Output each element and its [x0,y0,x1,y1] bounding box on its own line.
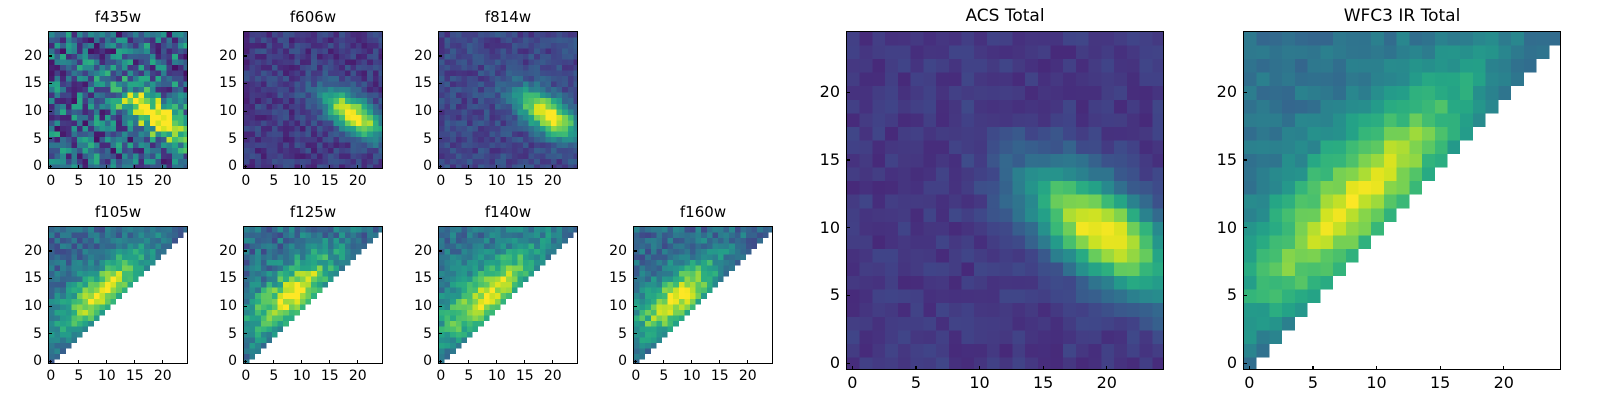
x-tick-label-acs-total-3: 15 [1033,375,1053,391]
x-tick-label-f160w-1: 5 [659,369,668,383]
y-tick-label-f160w-1: 5 [618,327,627,341]
y-tick-f435w-3 [48,83,52,84]
x-tick-f140w-4 [552,360,553,364]
panel-f140w: f140w0510152005101520 [438,226,578,364]
y-tick-acs-total-3 [846,159,850,160]
y-tick-f606w-3 [243,83,247,84]
y-tick-label-wfc3-ir-total-2: 10 [1217,220,1237,236]
x-tick-wfc3-ir-total-3 [1440,366,1441,370]
x-tick-label-f606w-0: 0 [241,174,250,188]
x-tick-label-f160w-2: 10 [683,369,701,383]
y-tick-label-f140w-0: 0 [423,354,432,368]
x-tick-label-f160w-0: 0 [631,369,640,383]
y-tick-f125w-1 [243,333,247,334]
y-tick-label-f125w-2: 10 [219,299,237,313]
y-tick-acs-total-4 [846,92,850,93]
y-tick-wfc3-ir-total-4 [1243,92,1247,93]
panel-f160w: f160w0510152005101520 [633,226,773,364]
x-tick-f606w-4 [357,165,358,169]
y-tick-acs-total-0 [846,363,850,364]
panel-f814w: f814w0510152005101520 [438,31,578,169]
heatmap-image [49,227,188,364]
x-tick-label-acs-total-0: 0 [847,375,857,391]
y-tick-label-wfc3-ir-total-1: 5 [1227,287,1237,303]
x-tick-label-f125w-2: 10 [293,369,311,383]
y-tick-label-f814w-1: 5 [423,132,432,146]
y-tick-label-f814w-3: 15 [414,76,432,90]
y-tick-f160w-1 [633,333,637,334]
x-tick-acs-total-1 [915,366,916,370]
y-tick-f606w-1 [243,138,247,139]
x-tick-f814w-4 [552,165,553,169]
x-tick-label-f435w-3: 15 [126,174,144,188]
y-tick-wfc3-ir-total-3 [1243,159,1247,160]
y-tick-f814w-1 [438,138,442,139]
x-tick-f125w-4 [357,360,358,364]
y-tick-f814w-0 [438,166,442,167]
panel-f435w: f435w0510152005101520 [48,31,188,169]
x-tick-label-wfc3-ir-total-3: 15 [1430,375,1450,391]
x-tick-f435w-4 [162,165,163,169]
y-tick-f160w-0 [633,361,637,362]
x-tick-label-f125w-0: 0 [241,369,250,383]
y-tick-label-wfc3-ir-total-3: 15 [1217,152,1237,168]
x-tick-wfc3-ir-total-0 [1249,366,1250,370]
x-tick-label-wfc3-ir-total-2: 10 [1366,375,1386,391]
x-tick-f125w-2 [301,360,302,364]
heatmap-image [244,227,383,364]
x-tick-label-f435w-4: 20 [154,174,172,188]
y-tick-label-f160w-0: 0 [618,354,627,368]
x-tick-wfc3-ir-total-4 [1503,366,1504,370]
x-tick-f435w-3 [134,165,135,169]
x-tick-acs-total-3 [1043,366,1044,370]
y-tick-f606w-0 [243,166,247,167]
heatmap-image [244,32,383,169]
panel-title-f125w: f125w [290,205,336,220]
y-tick-wfc3-ir-total-2 [1243,227,1247,228]
panel-title-f814w: f814w [485,10,531,25]
x-tick-label-f125w-4: 20 [349,369,367,383]
y-tick-acs-total-1 [846,295,850,296]
x-tick-label-acs-total-4: 20 [1097,375,1117,391]
panel-wfc3-ir-total: WFC3 IR Total0510152005101520 [1243,31,1561,370]
panel-f125w: f125w0510152005101520 [243,226,383,364]
x-tick-f435w-1 [78,165,79,169]
x-tick-f160w-3 [719,360,720,364]
heatmap-image [634,227,773,364]
y-tick-wfc3-ir-total-0 [1243,363,1247,364]
x-tick-f160w-2 [691,360,692,364]
y-tick-label-f105w-1: 5 [33,327,42,341]
y-tick-label-f814w-2: 10 [414,104,432,118]
x-tick-label-f105w-0: 0 [46,369,55,383]
x-tick-f105w-3 [134,360,135,364]
y-tick-label-f140w-2: 10 [414,299,432,313]
y-tick-f140w-2 [438,306,442,307]
x-tick-label-f140w-4: 20 [544,369,562,383]
y-tick-label-f435w-0: 0 [33,159,42,173]
y-tick-f814w-3 [438,83,442,84]
y-tick-f140w-0 [438,361,442,362]
x-tick-label-f606w-4: 20 [349,174,367,188]
y-tick-label-f160w-2: 10 [609,299,627,313]
y-tick-label-f125w-0: 0 [228,354,237,368]
x-tick-f105w-2 [106,360,107,364]
y-tick-label-acs-total-1: 5 [830,287,840,303]
x-tick-label-f814w-2: 10 [488,174,506,188]
panel-title-f160w: f160w [680,205,726,220]
y-tick-label-f125w-4: 20 [219,244,237,258]
y-tick-f435w-2 [48,111,52,112]
y-tick-f606w-4 [243,55,247,56]
heatmap-image [439,227,578,364]
y-tick-f105w-4 [48,250,52,251]
y-tick-f125w-3 [243,278,247,279]
x-tick-f606w-2 [301,165,302,169]
y-tick-f814w-2 [438,111,442,112]
y-tick-label-wfc3-ir-total-4: 20 [1217,84,1237,100]
y-tick-label-f140w-4: 20 [414,244,432,258]
y-tick-f140w-3 [438,278,442,279]
x-tick-label-f105w-2: 10 [98,369,116,383]
x-tick-label-f435w-1: 5 [74,174,83,188]
panel-title-acs-total: ACS Total [965,8,1044,25]
y-tick-label-f606w-4: 20 [219,49,237,63]
x-tick-f606w-1 [273,165,274,169]
x-tick-label-f125w-1: 5 [269,369,278,383]
panel-acs-total: ACS Total0510152005101520 [846,31,1164,370]
panel-title-f606w: f606w [290,10,336,25]
plot-area-f606w [243,31,383,169]
x-tick-label-f606w-1: 5 [269,174,278,188]
x-tick-label-f105w-4: 20 [154,369,172,383]
y-tick-f160w-3 [633,278,637,279]
figure-canvas: f435w0510152005101520f606w05101520051015… [0,0,1600,400]
x-tick-label-wfc3-ir-total-0: 0 [1244,375,1254,391]
y-tick-acs-total-2 [846,227,850,228]
y-tick-label-f105w-4: 20 [24,244,42,258]
x-tick-wfc3-ir-total-2 [1376,366,1377,370]
y-tick-label-f606w-2: 10 [219,104,237,118]
x-tick-label-f435w-0: 0 [46,174,55,188]
x-tick-label-f140w-0: 0 [436,369,445,383]
y-tick-label-f105w-3: 15 [24,271,42,285]
x-tick-f814w-1 [468,165,469,169]
y-tick-f105w-0 [48,361,52,362]
y-tick-label-f435w-2: 10 [24,104,42,118]
y-tick-label-f606w-3: 15 [219,76,237,90]
panel-f105w: f105w0510152005101520 [48,226,188,364]
x-tick-f105w-4 [162,360,163,364]
y-tick-label-f140w-1: 5 [423,327,432,341]
x-tick-label-f140w-3: 15 [516,369,534,383]
panel-title-f140w: f140w [485,205,531,220]
plot-area-f105w [48,226,188,364]
x-tick-f125w-1 [273,360,274,364]
y-tick-f125w-2 [243,306,247,307]
x-tick-acs-total-2 [979,366,980,370]
x-tick-f160w-4 [747,360,748,364]
y-tick-label-f814w-4: 20 [414,49,432,63]
y-tick-label-f125w-3: 15 [219,271,237,285]
y-tick-label-f125w-1: 5 [228,327,237,341]
x-tick-f814w-3 [524,165,525,169]
x-tick-label-f814w-4: 20 [544,174,562,188]
panel-title-wfc3-ir-total: WFC3 IR Total [1344,8,1461,25]
y-tick-label-f435w-4: 20 [24,49,42,63]
y-tick-label-f105w-2: 10 [24,299,42,313]
y-tick-f160w-2 [633,306,637,307]
y-tick-label-acs-total-4: 20 [820,84,840,100]
y-tick-label-f105w-0: 0 [33,354,42,368]
panel-title-f435w: f435w [95,10,141,25]
x-tick-f105w-1 [78,360,79,364]
y-tick-f140w-1 [438,333,442,334]
y-tick-f105w-2 [48,306,52,307]
x-tick-f814w-2 [496,165,497,169]
x-tick-label-f814w-0: 0 [436,174,445,188]
x-tick-wfc3-ir-total-1 [1312,366,1313,370]
x-tick-f435w-2 [106,165,107,169]
y-tick-label-f435w-1: 5 [33,132,42,146]
y-tick-label-wfc3-ir-total-0: 0 [1227,355,1237,371]
y-tick-f105w-3 [48,278,52,279]
y-tick-label-acs-total-0: 0 [830,355,840,371]
y-tick-label-acs-total-2: 10 [820,220,840,236]
x-tick-label-wfc3-ir-total-4: 20 [1494,375,1514,391]
y-tick-label-f435w-3: 15 [24,76,42,90]
plot-area-f140w [438,226,578,364]
x-tick-label-f606w-3: 15 [321,174,339,188]
y-tick-label-f606w-0: 0 [228,159,237,173]
y-tick-label-f160w-4: 20 [609,244,627,258]
x-tick-acs-total-4 [1106,366,1107,370]
x-tick-f140w-2 [496,360,497,364]
x-tick-label-f140w-2: 10 [488,369,506,383]
y-tick-f160w-4 [633,250,637,251]
x-tick-label-f160w-3: 15 [711,369,729,383]
x-tick-f606w-3 [329,165,330,169]
x-tick-label-f125w-3: 15 [321,369,339,383]
y-tick-f435w-4 [48,55,52,56]
x-tick-label-f435w-2: 10 [98,174,116,188]
y-tick-label-f814w-0: 0 [423,159,432,173]
x-tick-f160w-1 [663,360,664,364]
plot-area-f435w [48,31,188,169]
heatmap-image [847,32,1164,370]
x-tick-label-f814w-3: 15 [516,174,534,188]
y-tick-f125w-4 [243,250,247,251]
x-tick-label-acs-total-1: 5 [911,375,921,391]
heatmap-image [1244,32,1561,370]
panel-title-f105w: f105w [95,205,141,220]
heatmap-image [49,32,188,169]
x-tick-label-f814w-1: 5 [464,174,473,188]
plot-area-wfc3-ir-total [1243,31,1561,370]
x-tick-f140w-3 [524,360,525,364]
y-tick-f435w-1 [48,138,52,139]
y-tick-f606w-2 [243,111,247,112]
x-tick-acs-total-0 [852,366,853,370]
y-tick-wfc3-ir-total-1 [1243,295,1247,296]
y-tick-label-f160w-3: 15 [609,271,627,285]
y-tick-label-acs-total-3: 15 [820,152,840,168]
x-tick-label-f140w-1: 5 [464,369,473,383]
y-tick-f105w-1 [48,333,52,334]
y-tick-f814w-4 [438,55,442,56]
x-tick-label-wfc3-ir-total-1: 5 [1308,375,1318,391]
plot-area-f814w [438,31,578,169]
heatmap-image [439,32,578,169]
x-tick-label-f160w-4: 20 [739,369,757,383]
x-tick-label-f606w-2: 10 [293,174,311,188]
y-tick-label-f140w-3: 15 [414,271,432,285]
plot-area-acs-total [846,31,1164,370]
x-tick-f140w-1 [468,360,469,364]
plot-area-f160w [633,226,773,364]
x-tick-label-acs-total-2: 10 [969,375,989,391]
x-tick-label-f105w-3: 15 [126,369,144,383]
panel-f606w: f606w0510152005101520 [243,31,383,169]
x-tick-f125w-3 [329,360,330,364]
y-tick-label-f606w-1: 5 [228,132,237,146]
y-tick-f140w-4 [438,250,442,251]
plot-area-f125w [243,226,383,364]
y-tick-f125w-0 [243,361,247,362]
x-tick-label-f105w-1: 5 [74,369,83,383]
y-tick-f435w-0 [48,166,52,167]
